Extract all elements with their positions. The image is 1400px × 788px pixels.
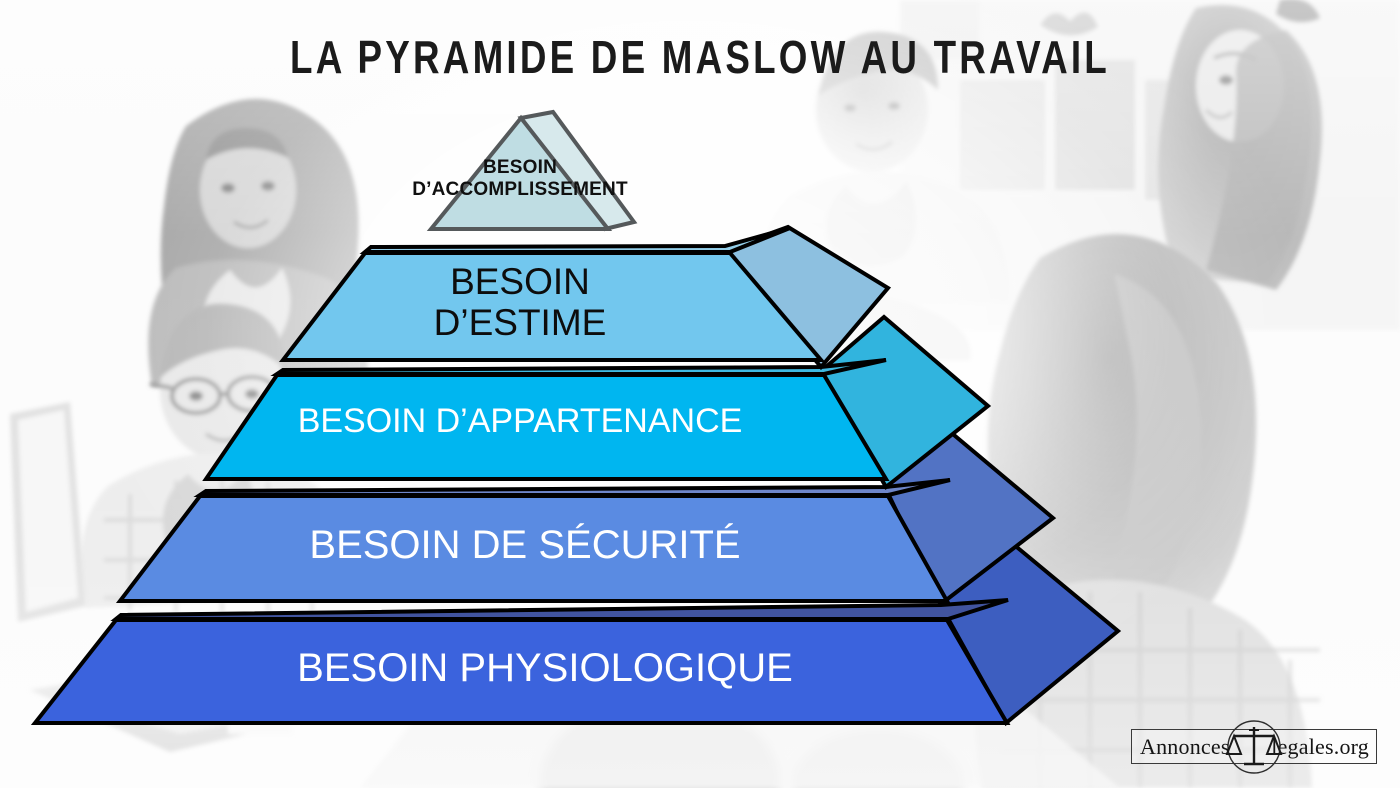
site-logo[interactable]: Annonces legales.org [1131,729,1377,764]
slide-canvas: LA PYRAMIDE DE MASLOW AU TRAVAIL [0,0,1400,788]
pyramid-tier-accomplissement [431,112,634,229]
logo-text-annonces: Annonces [1140,734,1230,760]
maslow-pyramid [0,0,1400,788]
logo-text-legales-org: legales.org [1271,734,1369,760]
page-title: LA PYRAMIDE DE MASLOW AU TRAVAIL [140,30,1260,84]
scales-of-justice-icon [1225,718,1283,776]
pyramid-tier-estime [283,227,888,367]
